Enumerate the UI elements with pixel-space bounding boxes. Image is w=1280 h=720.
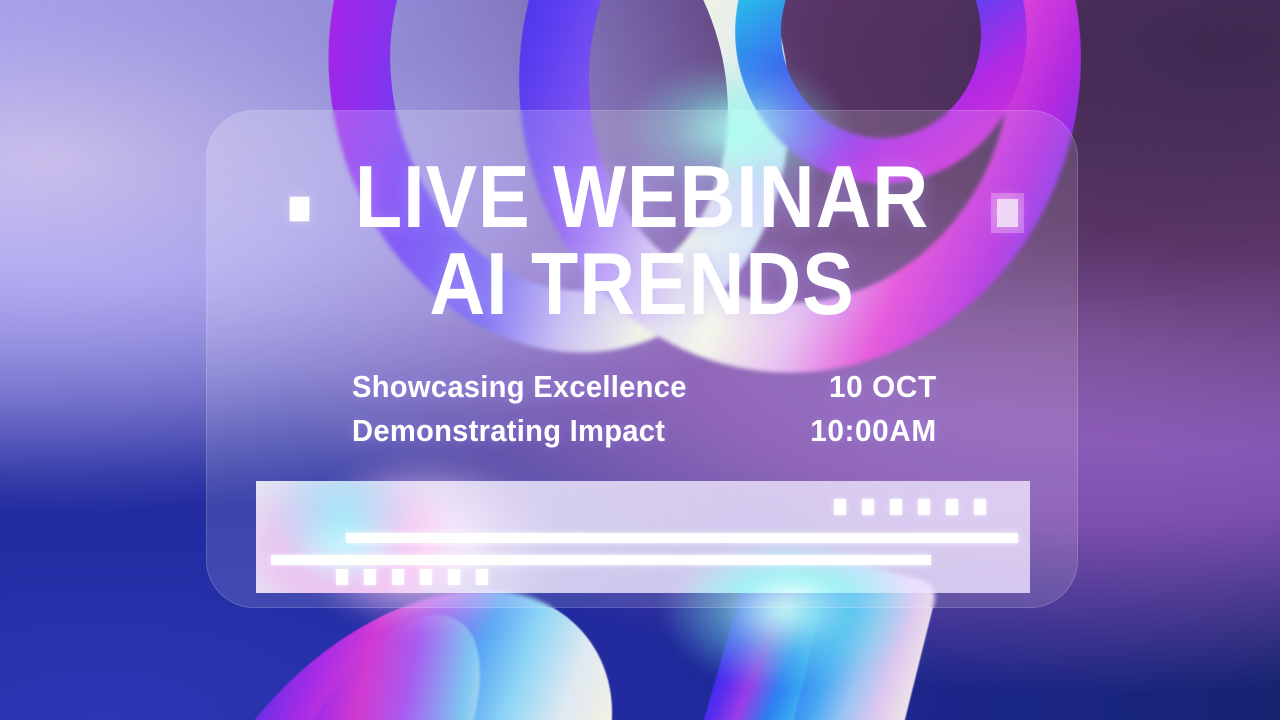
bottom-info-panel [256,481,1030,593]
dot-marker [862,499,874,515]
dot-marker [918,499,930,515]
date-time-block: 10 OCT 10:00AM [811,365,937,453]
dot-marker [336,569,348,585]
headline-block: LIVE WEBINAR AI TRENDS [207,157,1077,325]
headline-line-1: LIVE WEBINAR [259,157,1025,238]
dot-marker [890,499,902,515]
dot-row-top [834,499,986,515]
dot-marker [946,499,958,515]
glass-card: LIVE WEBINAR AI TRENDS Showcasing Excell… [206,110,1078,608]
subtitle-block: Showcasing Excellence Demonstrating Impa… [352,365,687,453]
dot-marker [392,569,404,585]
dot-marker [974,499,986,515]
headline-line-2: AI TRENDS [259,244,1025,325]
event-time: 10:00AM [811,409,937,453]
dot-marker [834,499,846,515]
event-date: 10 OCT [811,365,937,409]
divider-bar-lower [271,555,931,565]
subtitle-line-1: Showcasing Excellence [352,365,687,409]
dot-marker [448,569,460,585]
divider-bar-upper [346,533,1018,543]
subtitle-date-row: Showcasing Excellence Demonstrating Impa… [352,365,937,453]
poster-canvas: LIVE WEBINAR AI TRENDS Showcasing Excell… [0,0,1280,720]
panel-glow-white [676,543,906,593]
dot-marker [476,569,488,585]
dot-marker [364,569,376,585]
subtitle-line-2: Demonstrating Impact [352,409,687,453]
dot-row-bottom [336,569,488,585]
dot-marker [420,569,432,585]
